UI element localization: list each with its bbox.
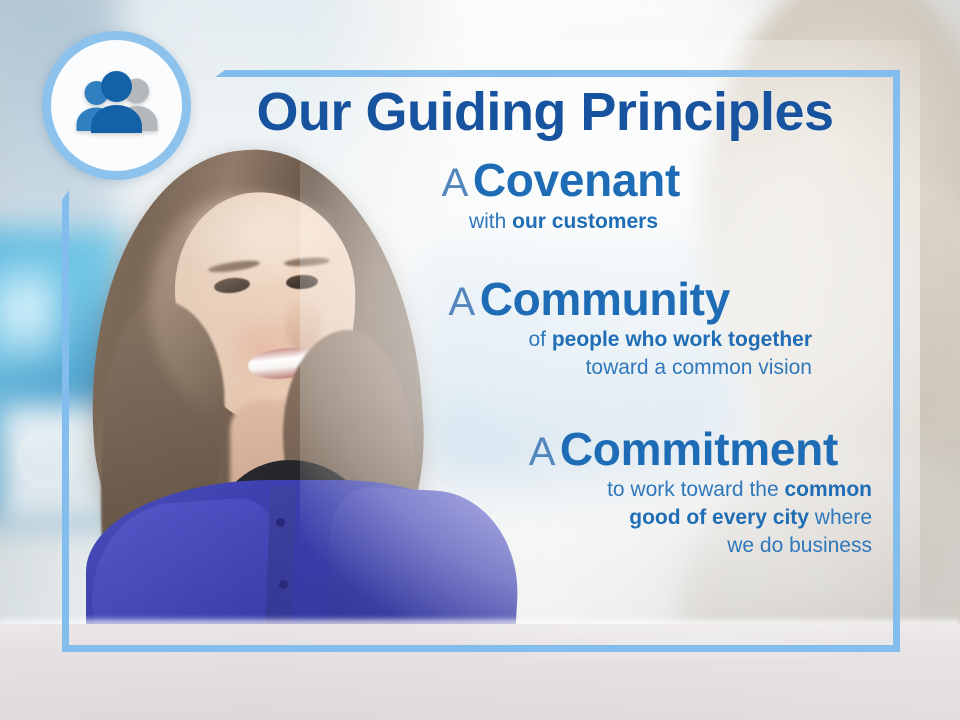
frame-line-bottom — [62, 645, 900, 652]
principle-word: Covenant — [473, 154, 680, 206]
principle-subtext: of people who work together toward a com… — [200, 326, 890, 381]
subtext-run: toward a common vision — [586, 356, 812, 379]
principle-subtext: to work toward the common good of every … — [200, 476, 890, 559]
people-badge — [42, 31, 191, 180]
copy-block: Our Guiding Principles A Covenant with o… — [200, 84, 890, 559]
guiding-principles-banner: FLOW AUTOMOTIVE FLOW — [0, 0, 960, 720]
principle-subtext: with our customers — [200, 208, 890, 236]
frame-line-right — [893, 70, 900, 652]
subtext-run-bold: common — [784, 478, 872, 501]
frame-line-top — [215, 70, 900, 77]
page-title: Our Guiding Principles — [200, 84, 890, 141]
principle-word: Commitment — [560, 423, 838, 475]
principle-community: A Community of people who work together … — [200, 274, 890, 382]
subtext-run: of — [528, 328, 551, 351]
subtext-run: to work toward the — [607, 478, 784, 501]
subtext-run: with — [469, 210, 512, 233]
principle-word: Community — [480, 273, 730, 325]
subtext-run-bold: good of every city — [629, 506, 809, 529]
principle-article: A — [442, 161, 469, 205]
principle-article: A — [529, 430, 556, 474]
subtext-run-bold: people who work together — [552, 328, 812, 351]
subtext-run-bold: our customers — [512, 210, 658, 233]
principle-heading: A Community — [200, 274, 890, 325]
principle-commitment: A Commitment to work toward the common g… — [200, 424, 890, 560]
subtext-run: we do business — [727, 534, 872, 557]
people-group-icon — [71, 70, 163, 142]
principle-covenant: A Covenant with our customers — [200, 155, 890, 235]
principle-heading: A Commitment — [200, 424, 890, 475]
principle-heading: A Covenant — [200, 155, 890, 206]
principle-article: A — [449, 280, 476, 324]
subtext-run: where — [809, 506, 872, 529]
frame-line-left — [62, 190, 69, 652]
